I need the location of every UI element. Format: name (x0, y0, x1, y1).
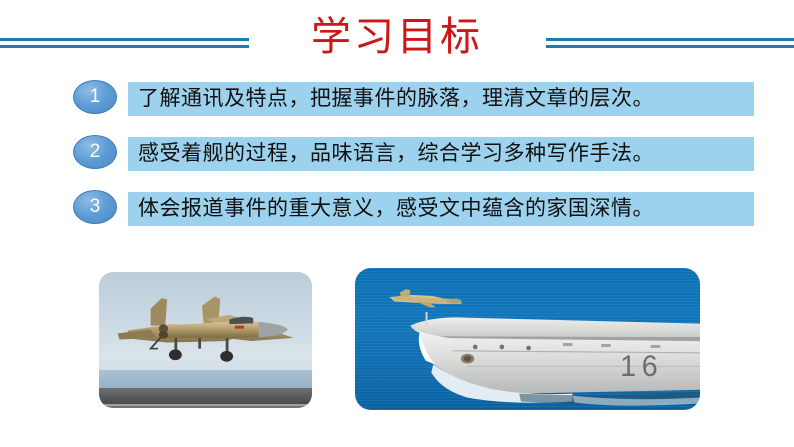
slide-header: 学习目标 (0, 0, 794, 72)
deck-marking-line (99, 406, 312, 408)
objective-number-badge-2: 2 (73, 135, 117, 169)
hull-number-text: 16 (620, 351, 663, 383)
list-item: 3 体会报道事件的重大意义，感受文中蕴含的家国深情。 (0, 188, 794, 228)
fighter-jet-icon (114, 295, 297, 379)
objective-text-2: 感受着舰的过程，品味语言，综合学习多种写作手法。 (138, 135, 778, 171)
list-item: 1 了解通讯及特点，把握事件的脉落，理清文章的层次。 (0, 78, 794, 118)
photo-aircraft-carrier: 16 (355, 268, 700, 410)
objective-text-1: 了解通讯及特点，把握事件的脉落，理清文章的层次。 (138, 80, 778, 116)
list-item: 2 感受着舰的过程，品味语言，综合学习多种写作手法。 (0, 133, 794, 173)
aircraft-carrier-hull: 16 (376, 308, 700, 410)
page-title: 学习目标 (0, 12, 794, 62)
photo-fighter-jet-landing (99, 272, 312, 408)
objective-number-badge-1: 1 (73, 80, 117, 114)
photo-carrier-deck (99, 388, 312, 408)
rule-line-top (546, 38, 794, 41)
rule-line-bottom (546, 45, 794, 48)
slide-canvas: 学习目标 1 了解通讯及特点，把握事件的脉落，理清文章的层次。 2 感受着舰的过… (0, 0, 794, 447)
decorative-rule-right (546, 38, 794, 49)
objective-text-3: 体会报道事件的重大意义，感受文中蕴含的家国深情。 (138, 190, 778, 226)
objective-number-badge-3: 3 (73, 190, 117, 224)
